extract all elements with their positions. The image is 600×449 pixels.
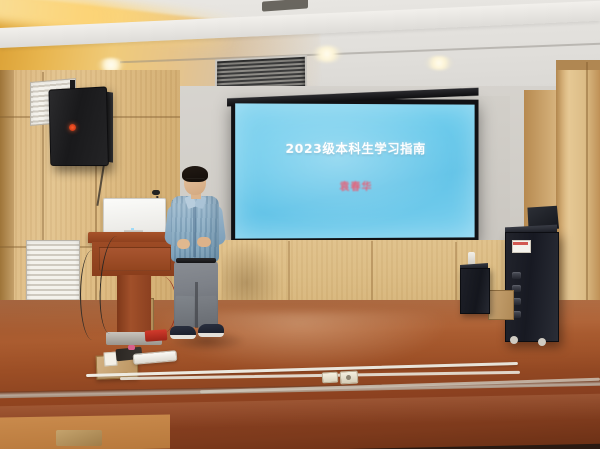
glasses-icon — [185, 178, 205, 183]
presenter-belt — [176, 258, 216, 263]
podium-cable — [80, 250, 105, 340]
rack-caster-wheel — [538, 338, 546, 346]
lecture-hall-photo: 2023级本科生学习指南 袁春华 — [0, 0, 600, 449]
trouser-seam — [195, 282, 198, 328]
right-column-top-trim — [556, 60, 600, 70]
wall-corner-trim — [0, 70, 14, 330]
wood-block-on-floor — [56, 430, 102, 446]
podium-cable-red — [146, 276, 177, 334]
presenter-hand-right — [197, 237, 211, 247]
cable-connector-socket — [340, 371, 359, 385]
microphone-head-icon — [152, 190, 160, 195]
shoe-sole-right — [198, 333, 224, 337]
wall-speaker — [48, 86, 108, 166]
speaker-power-led-icon — [69, 124, 76, 131]
downlight-icon — [424, 56, 454, 70]
downlight-icon — [310, 46, 344, 62]
pink-connector — [128, 345, 135, 350]
presenter-hand-left — [177, 239, 190, 249]
podium-monitor — [103, 198, 166, 234]
shoe-sole-left — [170, 335, 196, 339]
cable-connector — [322, 372, 339, 384]
slide-title: 2023级本科生学习指南 — [235, 138, 474, 157]
projector-hotspot — [235, 103, 474, 238]
red-power-plug — [145, 329, 168, 342]
shirt-placket — [193, 205, 196, 257]
rack-label-stripe — [513, 242, 528, 245]
projection-screen: 2023级本科生学习指南 袁春华 — [235, 103, 474, 238]
rack-knob[interactable] — [512, 272, 521, 279]
cardboard-carton — [488, 290, 514, 320]
rack-caster-wheel — [510, 336, 518, 344]
slide-author: 袁春华 — [235, 178, 474, 193]
floor-speaker-box — [460, 268, 490, 314]
